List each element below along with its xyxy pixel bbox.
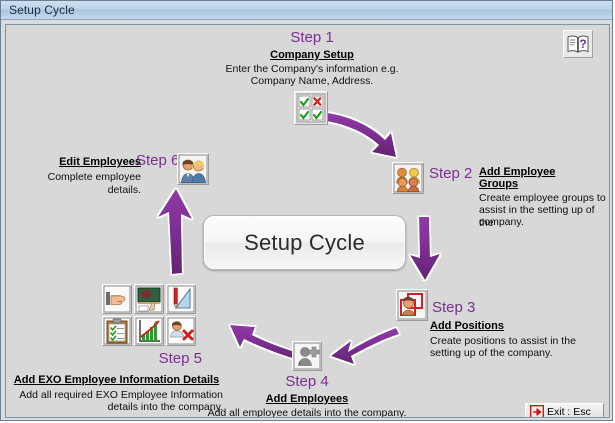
window-title: Setup Cycle <box>9 3 75 17</box>
step-5-title: Add EXO Employee Information Details <box>10 374 223 387</box>
step-4-desc-line-1: Add all employee details into the compan… <box>192 407 422 418</box>
exit-button[interactable]: Exit : Esc <box>525 403 604 418</box>
step-6-title: Edit Employees <box>31 156 141 169</box>
center-plate-label: Setup Cycle <box>204 230 405 256</box>
hand-pointer-icon[interactable] <box>102 284 132 314</box>
step-1-title: Company Setup <box>232 49 392 62</box>
step-1-desc-line-1: Enter the Company's information e.g. <box>202 63 422 76</box>
help-button[interactable]: ? <box>563 30 593 58</box>
person-delete-icon[interactable] <box>166 316 196 346</box>
add-person-plus-icon[interactable] <box>292 341 322 371</box>
setup-cycle-canvas: Step 1 Company Setup Enter the Company's… <box>6 25 609 417</box>
position-face-frame-icon[interactable] <box>396 289 428 321</box>
employee-group-faces-icon[interactable] <box>392 162 424 194</box>
help-book-icon: ? <box>567 34 589 54</box>
step-4-number: Step 4 <box>227 373 387 390</box>
pencil-ruler-icon[interactable] <box>166 284 196 314</box>
window-titlebar[interactable]: Setup Cycle <box>1 1 612 20</box>
step-2-title-line-2: Groups <box>479 178 609 191</box>
step-5-desc-line-2: details into the company. <box>18 401 223 414</box>
bar-chart-growth-icon[interactable] <box>134 316 164 346</box>
clipboard-checklist-icon[interactable] <box>102 316 132 346</box>
client-area: Step 1 Company Setup Enter the Company's… <box>5 24 610 418</box>
step-4-title: Add Employees <box>227 393 387 406</box>
step-3-number: Step 3 <box>432 299 492 316</box>
exit-door-arrow-icon <box>530 405 544 418</box>
setup-cycle-center-plate: Setup Cycle <box>203 215 406 270</box>
two-employees-icon[interactable] <box>177 153 209 185</box>
step-2-desc-line-1: Create employee groups to <box>479 192 609 205</box>
arrow-step5-to-step6 <box>158 189 192 274</box>
arrow-step2-to-step3 <box>410 217 440 280</box>
step-3-title: Add Positions <box>430 320 590 333</box>
checklist-grid-icon[interactable] <box>294 91 328 125</box>
step-1-number: Step 1 <box>232 29 392 46</box>
exit-button-label: Exit : Esc <box>547 406 591 418</box>
setup-cycle-window: Setup Cycle <box>0 0 613 421</box>
step-1-desc-line-2: Company Name, Address. <box>202 75 422 88</box>
step-3-desc-line-2: setting up of the company. <box>430 347 605 360</box>
step-5-number: Step 5 <box>102 350 202 367</box>
step-6-desc-line-1: Complete employee details. <box>16 171 141 196</box>
step-2-desc-line-3: company. <box>479 216 609 229</box>
step-3-desc-line-1: Create positions to assist in the <box>430 335 605 348</box>
step-5-desc-line-1: Add all required EXO Employee Informatio… <box>18 389 223 402</box>
arrow-step3-to-step4 <box>331 328 399 364</box>
arrow-step1-to-step2 <box>326 113 396 157</box>
whiteboard-presentation-icon[interactable] <box>134 284 164 314</box>
svg-text:?: ? <box>579 37 586 51</box>
